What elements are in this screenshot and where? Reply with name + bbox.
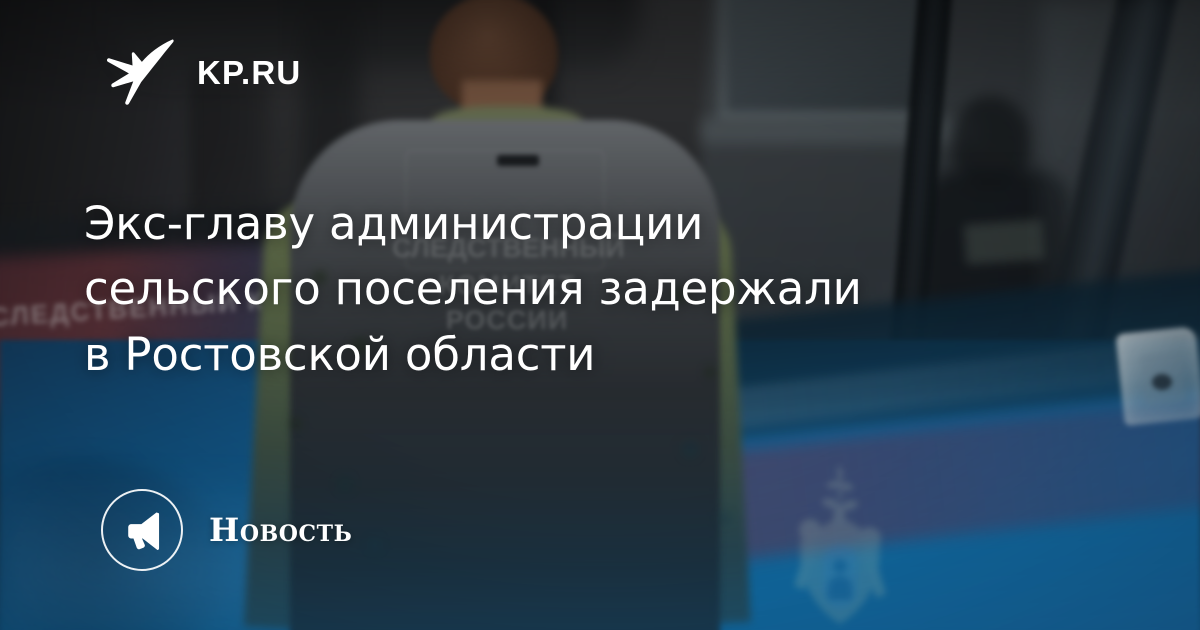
news-share-card: СЛЕДСТВЕННЫЙ КОМИТЕТ xyxy=(0,0,1200,630)
badge-icon-circle xyxy=(101,489,183,571)
brand-name: KP.RU xyxy=(197,56,301,89)
headline-line-1: Экс-главу администрации xyxy=(84,191,1084,256)
swallow-bird-icon xyxy=(103,36,175,108)
badge-label: Новость xyxy=(209,511,352,549)
headline: Экс-главу администрации сельского поселе… xyxy=(84,191,1084,387)
headline-line-3: в Ростовской области xyxy=(84,322,1084,387)
headline-line-2: сельского поселения задержали xyxy=(84,256,1084,321)
megaphone-icon xyxy=(121,509,163,551)
card-content: KP.RU Экс-главу администрации сельского … xyxy=(0,0,1200,630)
category-badge[interactable]: Новость xyxy=(101,489,352,571)
brand-logo[interactable]: KP.RU xyxy=(103,36,301,108)
